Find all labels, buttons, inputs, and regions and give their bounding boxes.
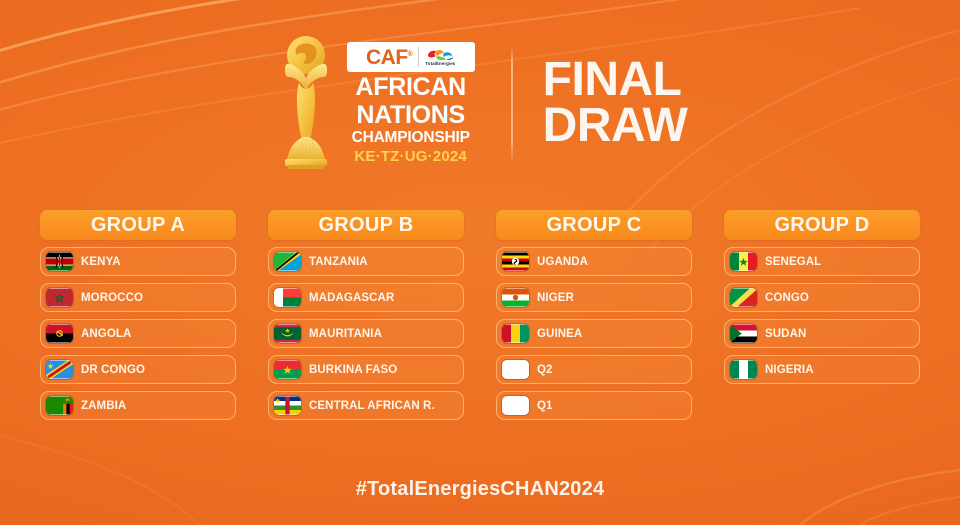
team-row[interactable]: Q1 xyxy=(496,391,692,420)
caf-wordmark: CAF® xyxy=(366,47,412,68)
title-line-final: FINAL xyxy=(543,57,688,103)
senegal-flag-icon xyxy=(730,252,757,271)
team-row[interactable]: TANZANIA xyxy=(268,247,464,276)
sudan-flag-icon xyxy=(730,324,757,343)
nigeria-flag-icon xyxy=(730,360,757,379)
group-column: GROUP CUGANDANIGERGUINEAQ2Q1 xyxy=(496,210,692,420)
final-draw-graphic: CAF® TotalEnergies AFRICAN NATIONS CHAMP… xyxy=(0,0,960,525)
caf-chan-logo: CAF® TotalEnergies AFRICAN NATIONS CHAMP… xyxy=(345,42,477,163)
groups-container: GROUP AKENYAMOROCCOANGOLADR CONGOZAMBIAG… xyxy=(40,210,920,420)
team-name: MAURITANIA xyxy=(309,328,382,340)
logo-line-african: AFRICAN xyxy=(355,75,465,100)
group-header-group-a[interactable]: GROUP A xyxy=(40,210,236,240)
team-name: UGANDA xyxy=(537,256,588,268)
team-name: KENYA xyxy=(81,256,121,268)
placeholder-flag-icon xyxy=(502,396,529,415)
header-vertical-divider xyxy=(511,44,513,162)
angola-flag-icon xyxy=(46,324,73,343)
team-name: ZAMBIA xyxy=(81,400,126,412)
team-row[interactable]: NIGERIA xyxy=(724,355,920,384)
page-title: FINAL DRAW xyxy=(543,57,688,149)
team-row[interactable]: CENTRAL AFRICAN R. xyxy=(268,391,464,420)
header: CAF® TotalEnergies AFRICAN NATIONS CHAMP… xyxy=(0,28,960,178)
caf-sponsor-bar: CAF® TotalEnergies xyxy=(347,42,475,72)
caf-text: CAF xyxy=(366,46,408,69)
totalenergies-icon: TotalEnergies xyxy=(425,48,455,66)
team-row[interactable]: UGANDA xyxy=(496,247,692,276)
team-row[interactable]: KENYA xyxy=(40,247,236,276)
team-row[interactable]: MOROCCO xyxy=(40,283,236,312)
group-header-group-c[interactable]: GROUP C xyxy=(496,210,692,240)
team-row[interactable]: MADAGASCAR xyxy=(268,283,464,312)
team-row[interactable]: DR CONGO xyxy=(40,355,236,384)
group-column: GROUP AKENYAMOROCCOANGOLADR CONGOZAMBIA xyxy=(40,210,236,420)
team-name: NIGERIA xyxy=(765,364,814,376)
team-name: MOROCCO xyxy=(81,292,143,304)
team-name: MADAGASCAR xyxy=(309,292,394,304)
dr-congo-flag-icon xyxy=(46,360,73,379)
footer-hashtag: #TotalEnergiesCHAN2024 xyxy=(0,478,960,501)
team-row[interactable]: MAURITANIA xyxy=(268,319,464,348)
registered-mark-icon: ® xyxy=(408,51,413,58)
kenya-flag-icon xyxy=(46,252,73,271)
placeholder-flag-icon xyxy=(502,360,529,379)
zambia-flag-icon xyxy=(46,396,73,415)
niger-flag-icon xyxy=(502,288,529,307)
team-row[interactable]: SUDAN xyxy=(724,319,920,348)
team-name: SUDAN xyxy=(765,328,806,340)
morocco-flag-icon xyxy=(46,288,73,307)
central-african-republic-flag-icon xyxy=(274,396,301,415)
sponsor-name: TotalEnergies xyxy=(425,62,455,66)
team-name: Q1 xyxy=(537,400,553,412)
team-name: CONGO xyxy=(765,292,809,304)
group-header-group-d[interactable]: GROUP D xyxy=(724,210,920,240)
team-name: TANZANIA xyxy=(309,256,368,268)
uganda-flag-icon xyxy=(502,252,529,271)
team-row[interactable]: NIGER xyxy=(496,283,692,312)
team-name: NIGER xyxy=(537,292,574,304)
team-name: CENTRAL AFRICAN R. xyxy=(309,400,435,412)
logo-hosts-year: KE·TZ·UG·2024 xyxy=(354,149,467,164)
team-name: BURKINA FASO xyxy=(309,364,397,376)
team-row[interactable]: GUINEA xyxy=(496,319,692,348)
mauritania-flag-icon xyxy=(274,324,301,343)
burkina-faso-flag-icon xyxy=(274,360,301,379)
congo-flag-icon xyxy=(730,288,757,307)
team-name: GUINEA xyxy=(537,328,582,340)
logo-divider xyxy=(418,47,419,67)
team-row[interactable]: SENEGAL xyxy=(724,247,920,276)
madagascar-flag-icon xyxy=(274,288,301,307)
logo-line-championship: CHAMPIONSHIP xyxy=(352,130,470,145)
title-line-draw: DRAW xyxy=(543,103,688,149)
tanzania-flag-icon xyxy=(274,252,301,271)
logo-line-nations: NATIONS xyxy=(356,103,465,128)
team-name: DR CONGO xyxy=(81,364,145,376)
team-name: Q2 xyxy=(537,364,553,376)
guinea-flag-icon xyxy=(502,324,529,343)
group-header-group-b[interactable]: GROUP B xyxy=(268,210,464,240)
team-row[interactable]: BURKINA FASO xyxy=(268,355,464,384)
group-column: GROUP BTANZANIAMADAGASCARMAURITANIABURKI… xyxy=(268,210,464,420)
team-name: SENEGAL xyxy=(765,256,821,268)
team-row[interactable]: Q2 xyxy=(496,355,692,384)
team-row[interactable]: CONGO xyxy=(724,283,920,312)
group-column: GROUP DSENEGALCONGOSUDANNIGERIA xyxy=(724,210,920,420)
caf-trophy-icon xyxy=(273,33,339,173)
team-row[interactable]: ANGOLA xyxy=(40,319,236,348)
team-name: ANGOLA xyxy=(81,328,131,340)
team-row[interactable]: ZAMBIA xyxy=(40,391,236,420)
